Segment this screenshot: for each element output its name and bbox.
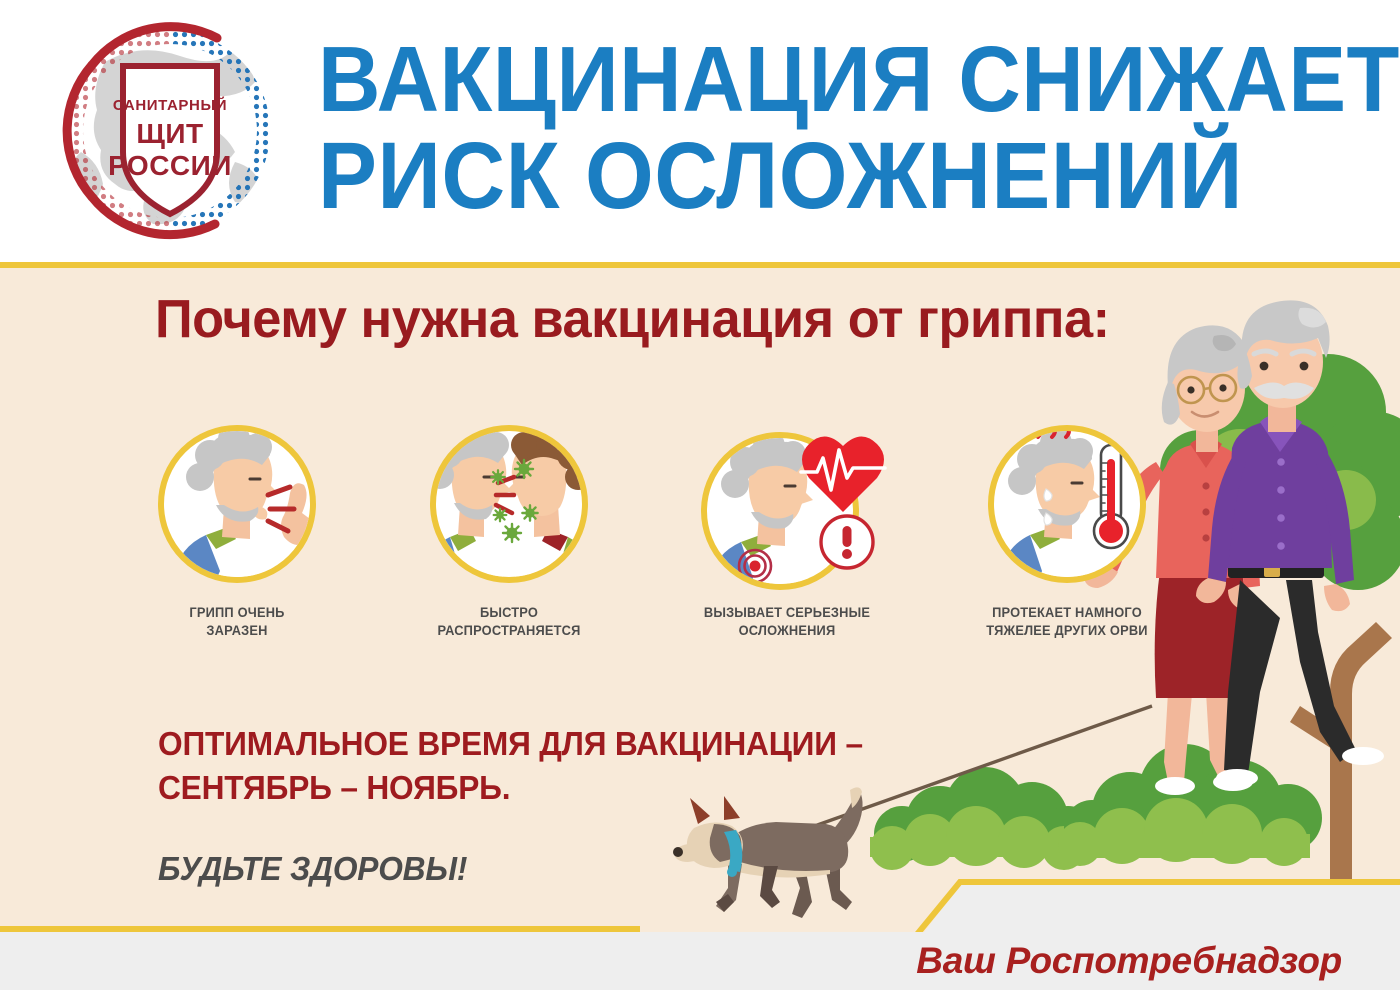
reason-item-contagious: ГРИПП ОЧЕНЬ ЗАРАЗЕН [96,416,378,640]
headline-line-1: ВАКЦИНАЦИЯ СНИЖАЕТ [318,33,1285,125]
sanitary-shield-of-russia-emblem-icon: САНИТАРНЫЙ ЩИТ РОССИИ [45,12,295,250]
reason-label-line2: ЗАРАЗЕН [103,622,371,640]
reason-label: ПРОТЕКАЕТ НАМНОГО ТЯЖЕЛЕЕ ДРУГИХ ОРВИ [933,604,1201,640]
cta-block: ОПТИМАЛЬНОЕ ВРЕМЯ ДЛЯ ВАКЦИНАЦИИ – СЕНТЯ… [158,722,892,810]
reason-label-line1: ПРОТЕКАЕТ НАМНОГО [933,604,1201,622]
reason-icon-wrap [368,416,650,592]
footer-signature: Ваш Роспотребнадзор [916,940,1342,982]
poster-footer: Ваш Роспотребнадзор [0,932,1400,990]
reasons-row: ГРИПП ОЧЕНЬ ЗАРАЗЕН [96,416,1226,666]
reason-item-severe: ПРОТЕКАЕТ НАМНОГО ТЯЖЕЛЕЕ ДРУГИХ ОРВИ [926,416,1208,640]
reason-label: ВЫЗЫВАЕТ СЕРЬЕЗНЫЕ ОСЛОЖНЕНИЯ [653,604,921,640]
poster-root: САНИТАРНЫЙ ЩИТ РОССИИ ВАКЦИНАЦИЯ СНИЖАЕТ… [0,0,1400,990]
reason-label-line1: ВЫЗЫВАЕТ СЕРЬЕЗНЫЕ [653,604,921,622]
reason-label-line2: ТЯЖЕЛЕЕ ДРУГИХ ОРВИ [933,622,1201,640]
section-heading: Почему нужна вакцинация от гриппа: [155,288,1110,350]
logo-shield-line3: РОССИИ [108,150,232,181]
reason-label-line1: БЫСТРО [375,604,643,622]
reason-item-spreads-fast: БЫСТРО РАСПРОСТРАНЯЕТСЯ [368,416,650,640]
poster-headline: ВАКЦИНАЦИЯ СНИЖАЕТ РИСК ОСЛОЖНЕНИЙ [318,18,1358,238]
reason-icon-wrap [646,416,928,592]
reason-label-line2: ОСЛОЖНЕНИЯ [653,622,921,640]
heart-complications-icon [687,414,887,594]
virus-transmission-two-people-icon [426,421,592,587]
reason-item-complications: ВЫЗЫВАЕТ СЕРЬЕЗНЫЕ ОСЛОЖНЕНИЯ [646,416,928,640]
be-healthy-text: БУДЬТЕ ЗДОРОВЫ! [158,850,467,888]
coughing-elderly-person-icon [154,421,320,587]
fever-thermometer-icon [984,421,1150,587]
cta-line-2: СЕНТЯБРЬ – НОЯБРЬ. [158,766,863,810]
sanitary-shield-logo: САНИТАРНЫЙ ЩИТ РОССИИ [45,12,295,250]
reason-label: ГРИПП ОЧЕНЬ ЗАРАЗЕН [103,604,371,640]
logo-shield-line1: САНИТАРНЫЙ [113,96,227,114]
reason-label-line2: РАСПРОСТРАНЯЕТСЯ [375,622,643,640]
poster-header: САНИТАРНЫЙ ЩИТ РОССИИ ВАКЦИНАЦИЯ СНИЖАЕТ… [0,0,1400,262]
cta-line-1: ОПТИМАЛЬНОЕ ВРЕМЯ ДЛЯ ВАКЦИНАЦИИ – [158,722,863,766]
reason-icon-wrap [96,416,378,592]
logo-shield-line2: ЩИТ [136,118,203,149]
reason-label: БЫСТРО РАСПРОСТРАНЯЕТСЯ [375,604,643,640]
headline-line-2: РИСК ОСЛОЖНЕНИЙ [318,129,1285,223]
reason-label-line1: ГРИПП ОЧЕНЬ [103,604,371,622]
reason-icon-wrap [926,416,1208,592]
alert-exclamation-icon [821,516,873,568]
